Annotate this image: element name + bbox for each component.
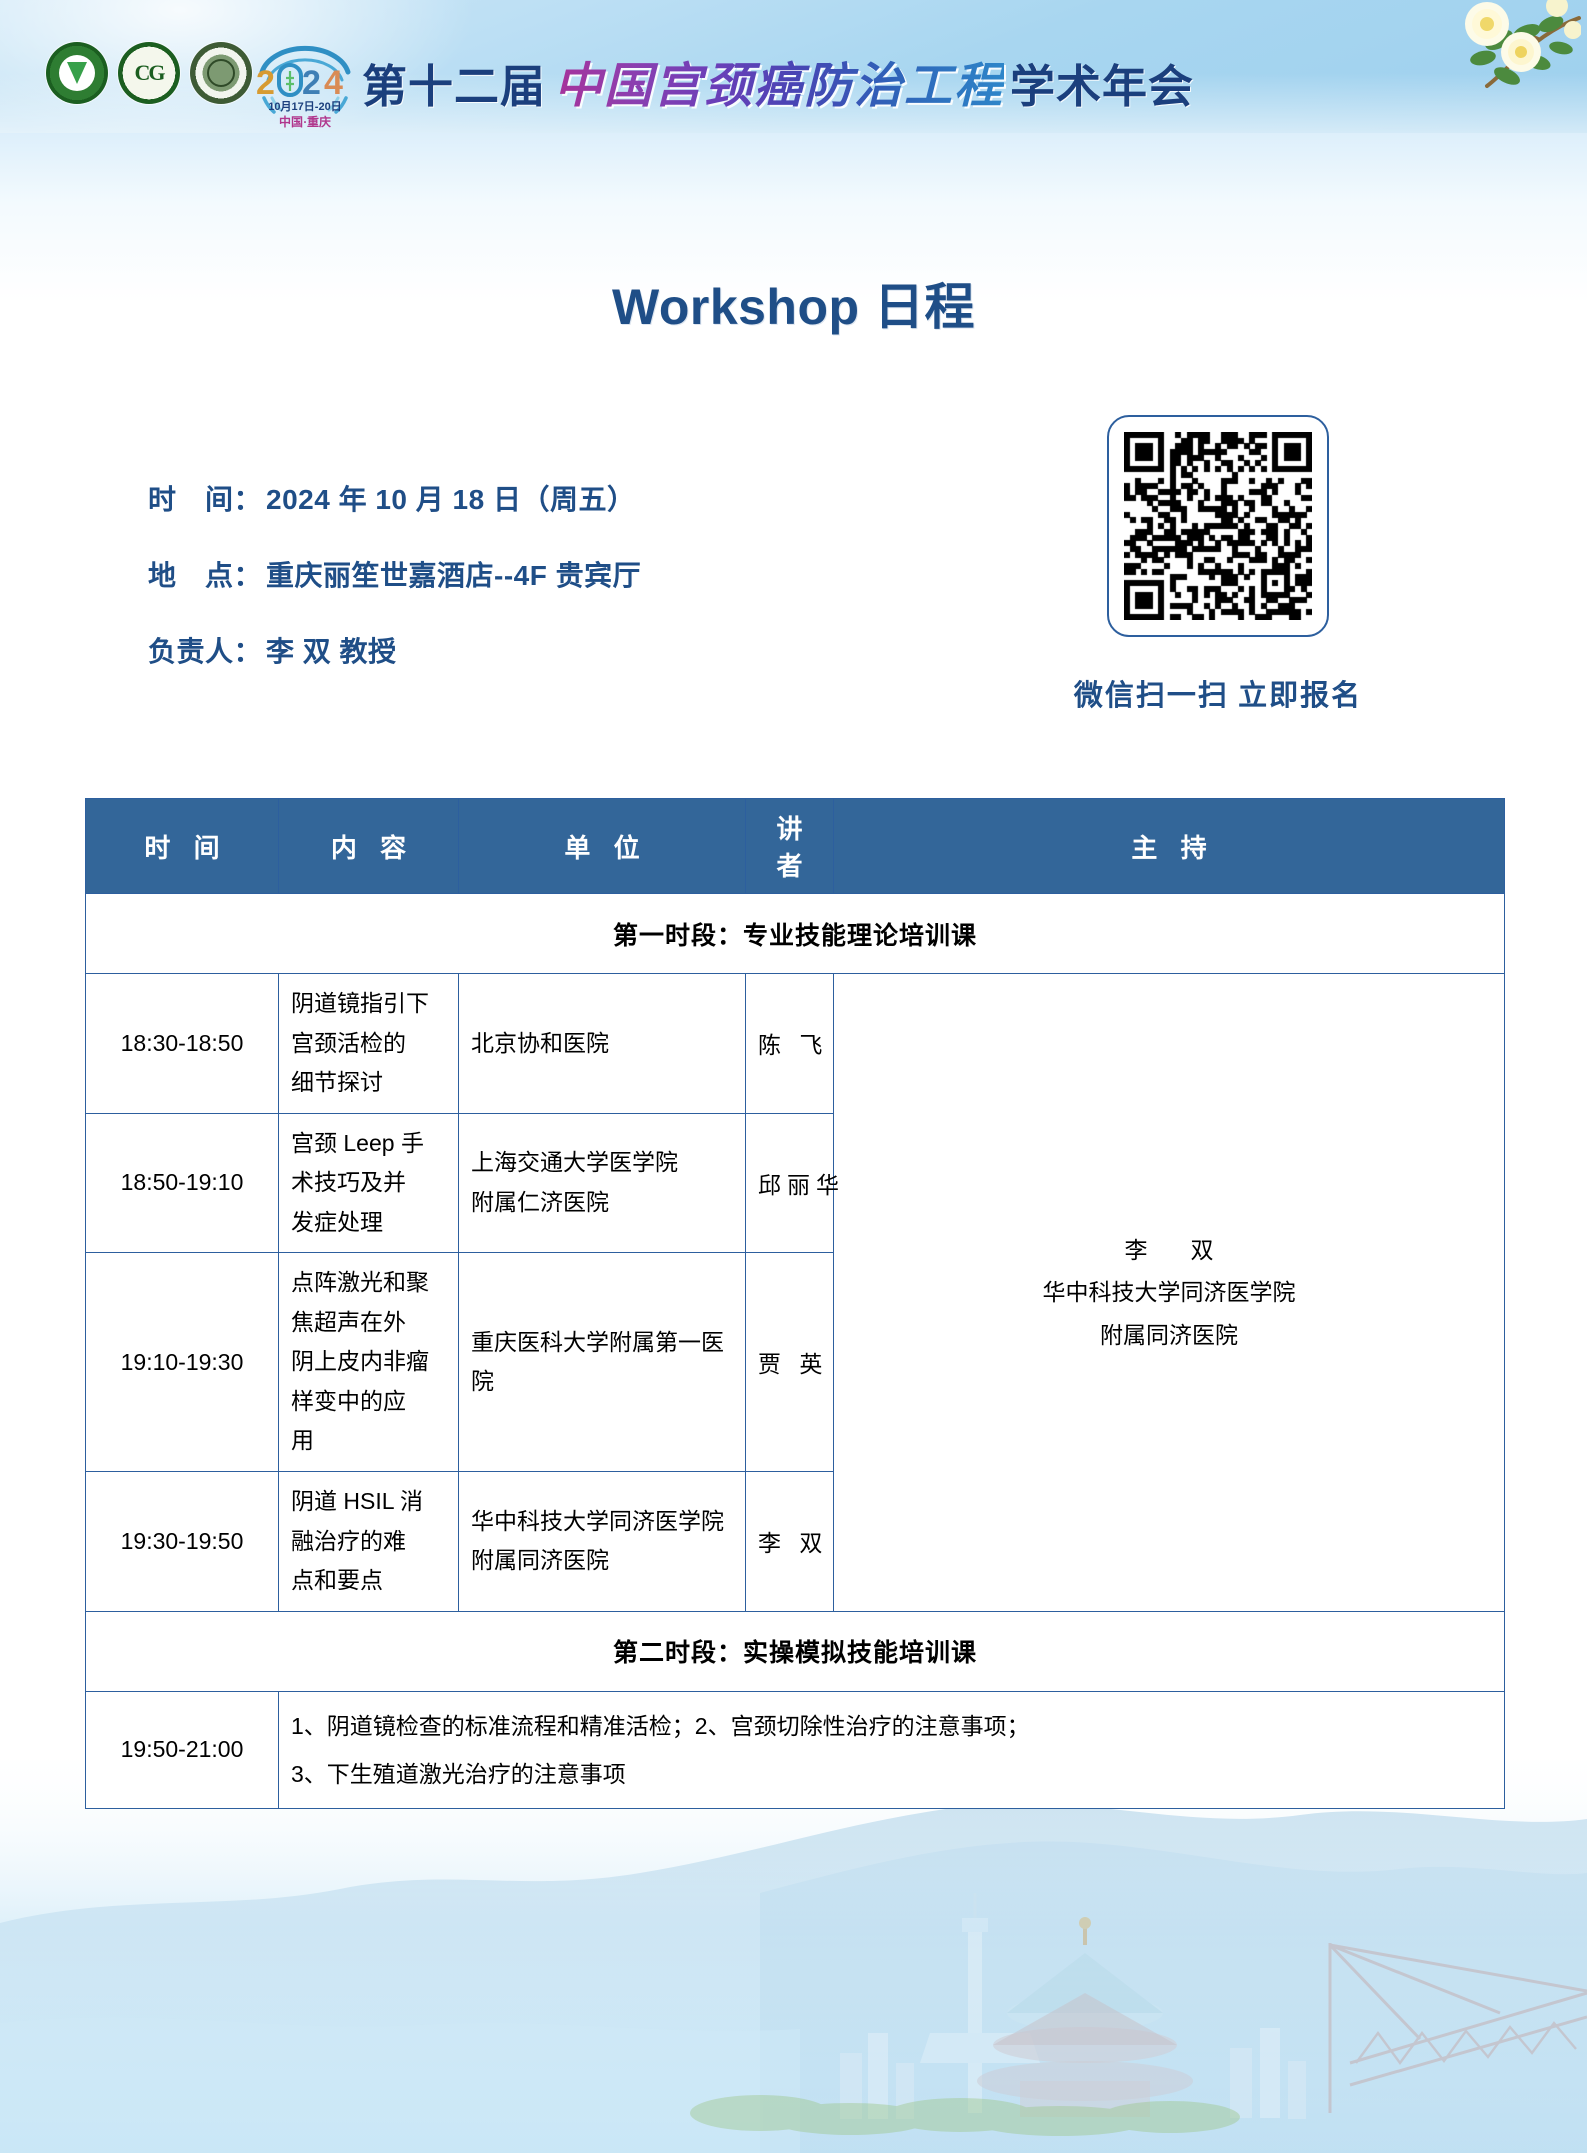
chair-affiliation-line2: 附属同济医院 bbox=[1100, 1322, 1238, 1348]
info-label-location: 地 点： bbox=[148, 554, 266, 594]
row1-org-line1: 北京协和医院 bbox=[471, 1024, 733, 1064]
row3-topic-line2: 阴上皮内非瘤样变中的应 bbox=[291, 1342, 446, 1421]
registration-qr-code[interactable] bbox=[1107, 415, 1329, 637]
row3-time: 19:10-19:30 bbox=[86, 1253, 279, 1472]
row4-org-line1: 华中科技大学同济医学院 bbox=[471, 1502, 733, 1542]
row3-topic-line3: 用 bbox=[291, 1421, 446, 1461]
row2-time: 18:50-19:10 bbox=[86, 1113, 279, 1253]
info-row-time: 时 间： 2024 年 10 月 18 日（周五） bbox=[148, 478, 641, 518]
table-row: 19:50-21:00 1、阴道镜检查的标准流程和精准活检；2、宫颈切除性治疗的… bbox=[86, 1691, 1505, 1809]
row2-speaker: 邱丽华 bbox=[746, 1113, 834, 1253]
info-value-organizer: 李 双 教授 bbox=[266, 630, 397, 670]
organizer-logos: CG bbox=[46, 42, 252, 104]
col-header-speaker: 讲 者 bbox=[746, 799, 834, 894]
col-header-content: 内 容 bbox=[279, 799, 459, 894]
col-header-time: 时 间 bbox=[86, 799, 279, 894]
section-title-1: 第一时段：专业技能理论培训课 bbox=[86, 894, 1505, 974]
section-row-1: 第一时段：专业技能理论培训课 bbox=[86, 894, 1505, 974]
col-header-organization: 单 位 bbox=[459, 799, 746, 894]
info-label-organizer: 负责人： bbox=[148, 630, 266, 670]
row3-topic: 点阵激光和聚焦超声在外 阴上皮内非瘤样变中的应 用 bbox=[279, 1253, 459, 1472]
row3-org: 重庆医科大学附属第一医院 bbox=[459, 1253, 746, 1472]
col-header-chair: 主 持 bbox=[834, 799, 1505, 894]
practice-line1: 1、阴道镜检查的标准流程和精准活检；2、宫颈切除性治疗的注意事项； bbox=[291, 1702, 1492, 1750]
chair-affiliation-line1: 华中科技大学同济医学院 bbox=[1043, 1279, 1296, 1305]
row2-topic: 宫颈 Leep 手术技巧及并 发症处理 bbox=[279, 1113, 459, 1253]
banner-title: 第十二届 中国宫颈癌防治工程 学术年会 bbox=[362, 46, 1194, 116]
row2-topic-line1: 宫颈 Leep 手术技巧及并 bbox=[291, 1124, 446, 1203]
practice-time: 19:50-21:00 bbox=[86, 1691, 279, 1809]
workshop-schedule-table: 时 间 内 容 单 位 讲 者 主 持 第一时段：专业技能理论培训课 18:30… bbox=[85, 798, 1505, 1809]
row4-org: 华中科技大学同济医学院 附属同济医院 bbox=[459, 1472, 746, 1612]
info-row-organizer: 负责人： 李 双 教授 bbox=[148, 630, 641, 670]
chair-name: 李 双 bbox=[846, 1229, 1492, 1272]
qr-caption: 微信扫一扫 立即报名 bbox=[1000, 672, 1436, 714]
emblem-2024-icon: 2 2 4 10月17日-20日 中国·重庆 bbox=[250, 38, 360, 130]
row2-org-line2: 附属仁济医院 bbox=[471, 1183, 733, 1223]
info-value-location: 重庆丽笙世嘉酒店--4F 贵宾厅 bbox=[266, 554, 641, 594]
chair-cell: 李 双 华中科技大学同济医学院 附属同济医院 bbox=[834, 974, 1505, 1612]
info-value-time: 2024 年 10 月 18 日（周五） bbox=[266, 478, 635, 518]
banner-title-part3: 学术年会 bbox=[1010, 50, 1194, 115]
table-row: 18:30-18:50 阴道镜指引下宫颈活检的 细节探讨 北京协和医院 陈 飞 … bbox=[86, 974, 1505, 1114]
row4-time: 19:30-19:50 bbox=[86, 1472, 279, 1612]
section-title-2: 第二时段：实操模拟技能培训课 bbox=[86, 1611, 1505, 1691]
row1-topic-line1: 阴道镜指引下宫颈活检的 bbox=[291, 984, 446, 1063]
row4-speaker: 李 双 bbox=[746, 1472, 834, 1612]
row4-topic-line2: 点和要点 bbox=[291, 1561, 446, 1601]
info-row-location: 地 点： 重庆丽笙世嘉酒店--4F 贵宾厅 bbox=[148, 554, 641, 594]
emblem-place: 中国·重庆 bbox=[279, 114, 331, 129]
table-header-row: 时 间 内 容 单 位 讲 者 主 持 bbox=[86, 799, 1505, 894]
row1-org: 北京协和医院 bbox=[459, 974, 746, 1114]
row3-topic-line1: 点阵激光和聚焦超声在外 bbox=[291, 1263, 446, 1342]
camellia-flowers-decoration-icon bbox=[1391, 0, 1581, 116]
row1-speaker: 陈 飞 bbox=[746, 974, 834, 1114]
logo-cg-icon: CG bbox=[118, 42, 180, 104]
poster-page: CG 2 2 4 10月17日-20日 中国·重庆 第十二届 中国宫颈癌防治工程… bbox=[0, 0, 1587, 2153]
svg-text:2: 2 bbox=[256, 64, 275, 102]
row1-topic-line2: 细节探讨 bbox=[291, 1063, 446, 1103]
row3-speaker: 贾 英 bbox=[746, 1253, 834, 1472]
row4-topic: 阴道 HSIL 消融治疗的难 点和要点 bbox=[279, 1472, 459, 1612]
emblem-dates: 10月17日-20日 bbox=[268, 100, 341, 113]
practice-line2: 3、下生殖道激光治疗的注意事项 bbox=[291, 1750, 1492, 1798]
event-info-block: 时 间： 2024 年 10 月 18 日（周五） 地 点： 重庆丽笙世嘉酒店-… bbox=[148, 478, 641, 706]
banner-title-part2: 中国宫颈癌防治工程 bbox=[554, 46, 1004, 116]
row4-topic-line1: 阴道 HSIL 消融治疗的难 bbox=[291, 1482, 446, 1561]
practice-content: 1、阴道镜检查的标准流程和精准活检；2、宫颈切除性治疗的注意事项； 3、下生殖道… bbox=[279, 1691, 1505, 1809]
section-row-2: 第二时段：实操模拟技能培训课 bbox=[86, 1611, 1505, 1691]
row1-topic: 阴道镜指引下宫颈活检的 细节探讨 bbox=[279, 974, 459, 1114]
qr-code-icon[interactable] bbox=[1124, 432, 1312, 620]
row2-org: 上海交通大学医学院 附属仁济医院 bbox=[459, 1113, 746, 1253]
event-banner: CG 2 2 4 10月17日-20日 中国·重庆 第十二届 中国宫颈癌防治工程… bbox=[0, 0, 1587, 133]
info-label-time: 时 间： bbox=[148, 478, 266, 518]
svg-text:4: 4 bbox=[324, 64, 343, 102]
page-title: Workshop 日程 bbox=[0, 267, 1587, 339]
row4-org-line2: 附属同济医院 bbox=[471, 1541, 733, 1581]
logo-caisocd-icon bbox=[46, 42, 108, 104]
row1-time: 18:30-18:50 bbox=[86, 974, 279, 1114]
row2-org-line1: 上海交通大学医学院 bbox=[471, 1143, 733, 1183]
row3-org-line1: 重庆医科大学附属第一医院 bbox=[471, 1323, 733, 1402]
banner-title-part1: 第十二届 bbox=[362, 50, 546, 115]
row2-topic-line2: 发症处理 bbox=[291, 1203, 446, 1243]
logo-cppc-icon bbox=[190, 42, 252, 104]
svg-text:2: 2 bbox=[302, 64, 321, 102]
logo-cg-text: CG bbox=[135, 60, 164, 86]
